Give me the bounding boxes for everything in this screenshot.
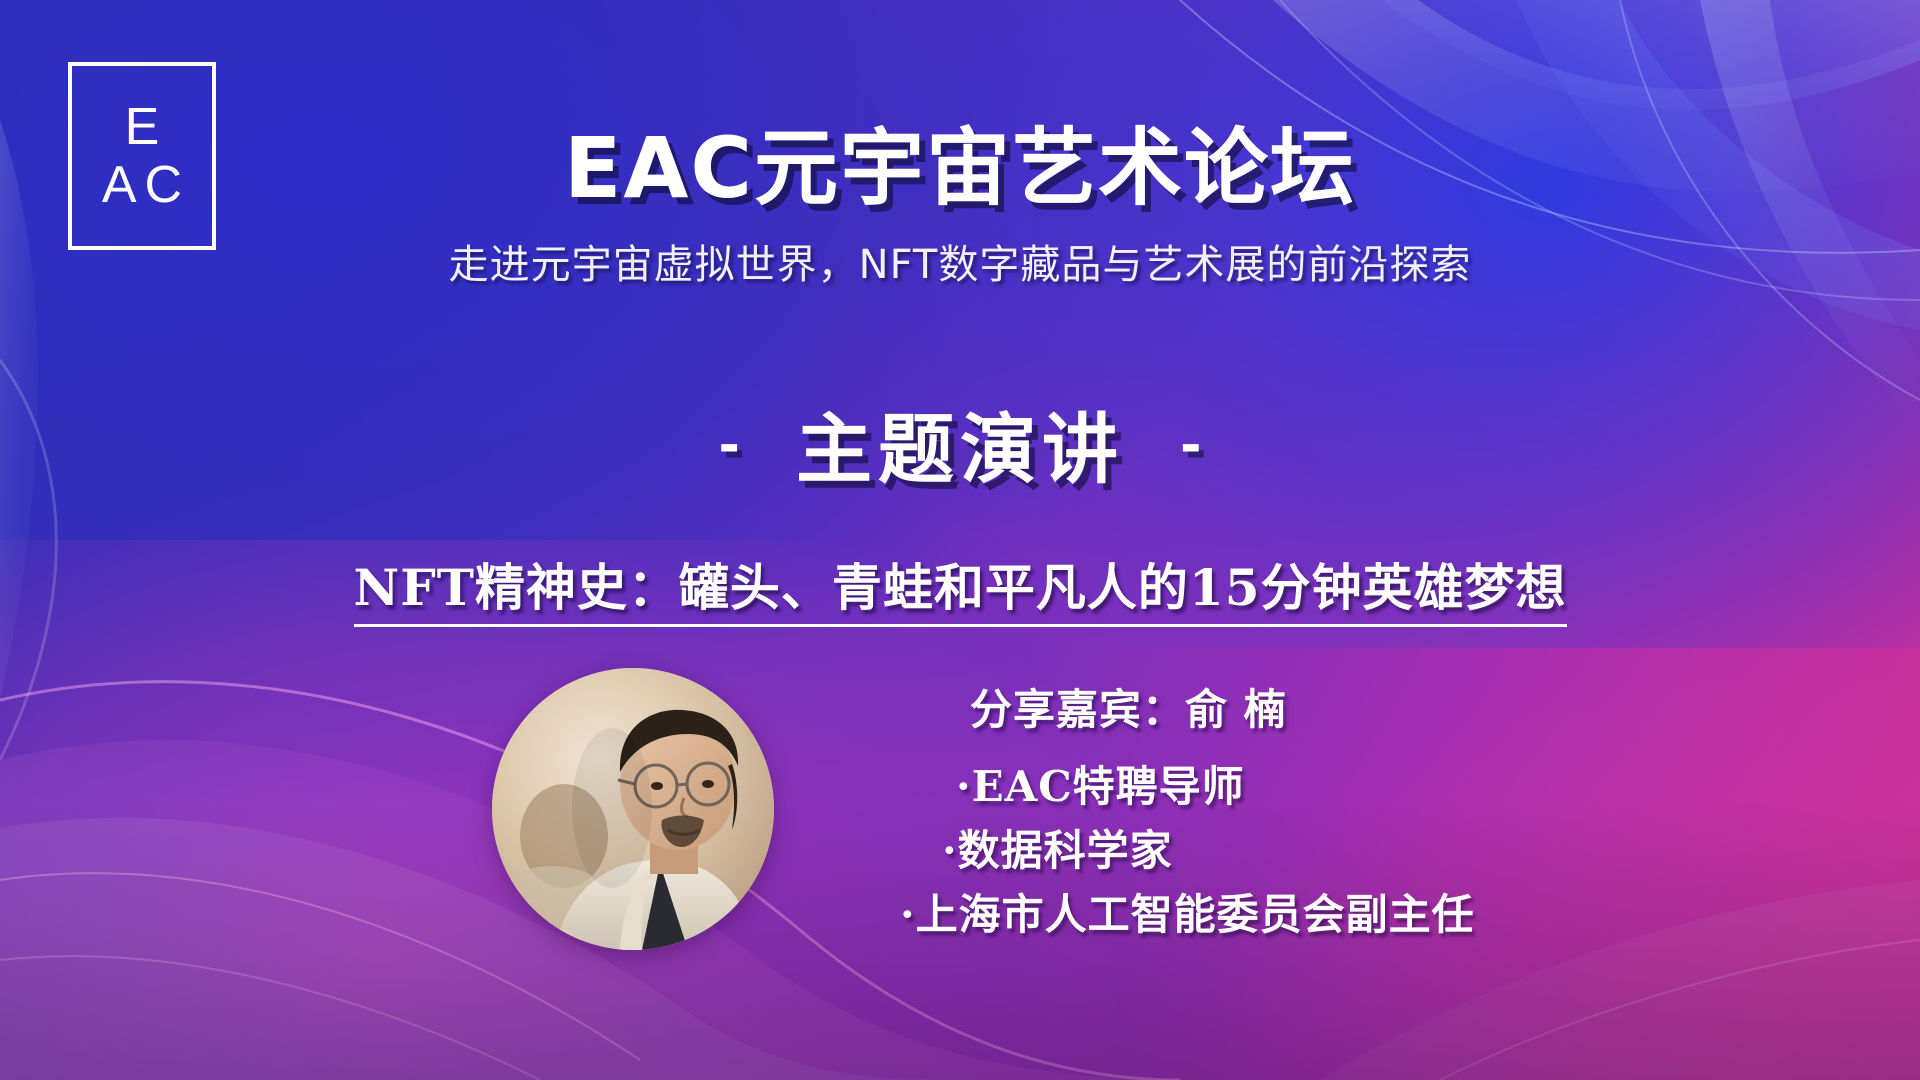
dash-left: - — [701, 408, 758, 479]
session-header: - 主题演讲 - — [0, 388, 1920, 498]
forum-title: EAC元宇宙艺术论坛 — [0, 126, 1920, 210]
slide-canvas: E AC EAC元宇宙艺术论坛 走进元宇宙虚拟世界，NFT数字藏品与艺术展的前沿… — [0, 0, 1920, 1080]
speaker-info: 分享嘉宾：俞 楠 ·EAC特聘导师 ·数据科学家 ·上海市人工智能委员会副主任 — [900, 676, 1660, 946]
talk-title-text: NFT精神史：罐头、青蛙和平凡人的15分钟英雄梦想 — [354, 558, 1567, 627]
speaker-credentials: ·EAC特聘导师 ·数据科学家 ·上海市人工智能委员会副主任 — [900, 755, 1660, 946]
speaker-portrait-image — [492, 668, 774, 950]
credential-item: ·数据科学家 — [942, 819, 1660, 883]
forum-subtitle: 走进元宇宙虚拟世界，NFT数字藏品与艺术展的前沿探索 — [0, 232, 1920, 290]
session-label: 主题演讲 — [762, 388, 1158, 498]
credential-item: ·EAC特聘导师 — [956, 755, 1660, 819]
speaker-name: 分享嘉宾：俞 楠 — [970, 676, 1660, 737]
talk-title: NFT精神史：罐头、青蛙和平凡人的15分钟英雄梦想 — [0, 548, 1920, 620]
dash-right: - — [1162, 408, 1219, 479]
speaker-avatar — [492, 668, 774, 950]
headline-block: EAC元宇宙艺术论坛 走进元宇宙虚拟世界，NFT数字藏品与艺术展的前沿探索 — [0, 126, 1920, 290]
credential-item: ·上海市人工智能委员会副主任 — [900, 883, 1660, 947]
